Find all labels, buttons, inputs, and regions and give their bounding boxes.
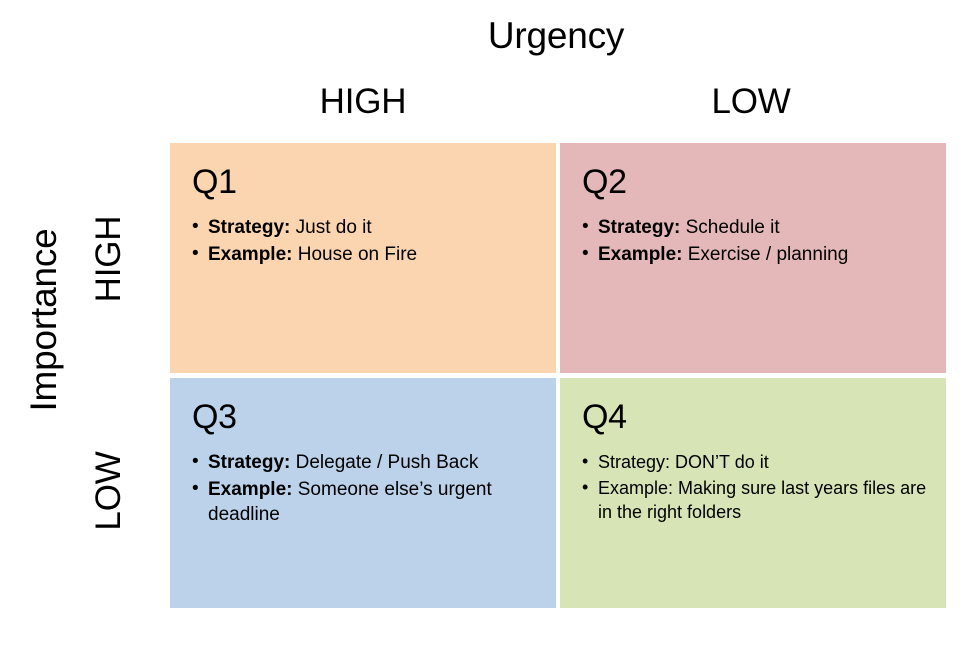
bullet-value: Schedule it [680,217,779,238]
quadrant-q4-bullets: Strategy: DON’T do it Example: Making su… [582,450,930,524]
bullet-label: Strategy: [208,452,290,473]
bullet-label: Example: [598,478,673,498]
bullet-value: Exercise / planning [682,244,848,265]
urgency-axis-title: Urgency [170,14,942,58]
quadrant-q2[interactable]: Q2 Strategy: Schedule it Example: Exerci… [560,143,946,373]
bullet-value: Delegate / Push Back [290,452,478,473]
list-item: Example: Making sure last years files ar… [582,476,930,524]
bullet-label: Example: [208,479,292,500]
quadrant-q4[interactable]: Q4 Strategy: DON’T do it Example: Making… [560,378,946,608]
bullet-value: Just do it [290,217,371,238]
list-item: Example: Exercise / planning [582,242,930,267]
list-item: Example: House on Fire [192,242,540,267]
list-item: Example: Someone else’s urgent deadline [192,477,540,527]
list-item: Strategy: Just do it [192,215,540,240]
bullet-label: Example: [598,244,682,265]
list-item: Strategy: Delegate / Push Back [192,450,540,475]
quadrant-q2-title: Q2 [582,163,930,201]
quadrant-q1-title: Q1 [192,163,540,201]
quadrant-q3[interactable]: Q3 Strategy: Delegate / Push Back Exampl… [170,378,556,608]
list-item: Strategy: Schedule it [582,215,930,240]
list-item: Strategy: DON’T do it [582,450,930,474]
quadrant-q1[interactable]: Q1 Strategy: Just do it Example: House o… [170,143,556,373]
column-header-urgency-low: LOW [560,81,942,123]
quadrant-q1-bullets: Strategy: Just do it Example: House on F… [192,215,540,267]
bullet-value: DON’T do it [670,452,769,472]
column-header-urgency-high: HIGH [170,81,556,123]
quadrant-q4-title: Q4 [582,398,930,436]
quadrant-q3-bullets: Strategy: Delegate / Push Back Example: … [192,450,540,527]
bullet-label: Strategy: [208,217,290,238]
eisenhower-matrix: Q1 Strategy: Just do it Example: House o… [170,143,942,608]
bullet-label: Strategy: [598,217,680,238]
importance-axis-title: Importance [22,190,66,450]
quadrant-q3-title: Q3 [192,398,540,436]
bullet-label: Strategy: [598,452,670,472]
bullet-value: House on Fire [292,244,417,265]
bullet-label: Example: [208,244,292,265]
row-header-importance-high: HIGH [88,144,130,374]
row-header-importance-low: LOW [88,376,130,606]
quadrant-q2-bullets: Strategy: Schedule it Example: Exercise … [582,215,930,267]
